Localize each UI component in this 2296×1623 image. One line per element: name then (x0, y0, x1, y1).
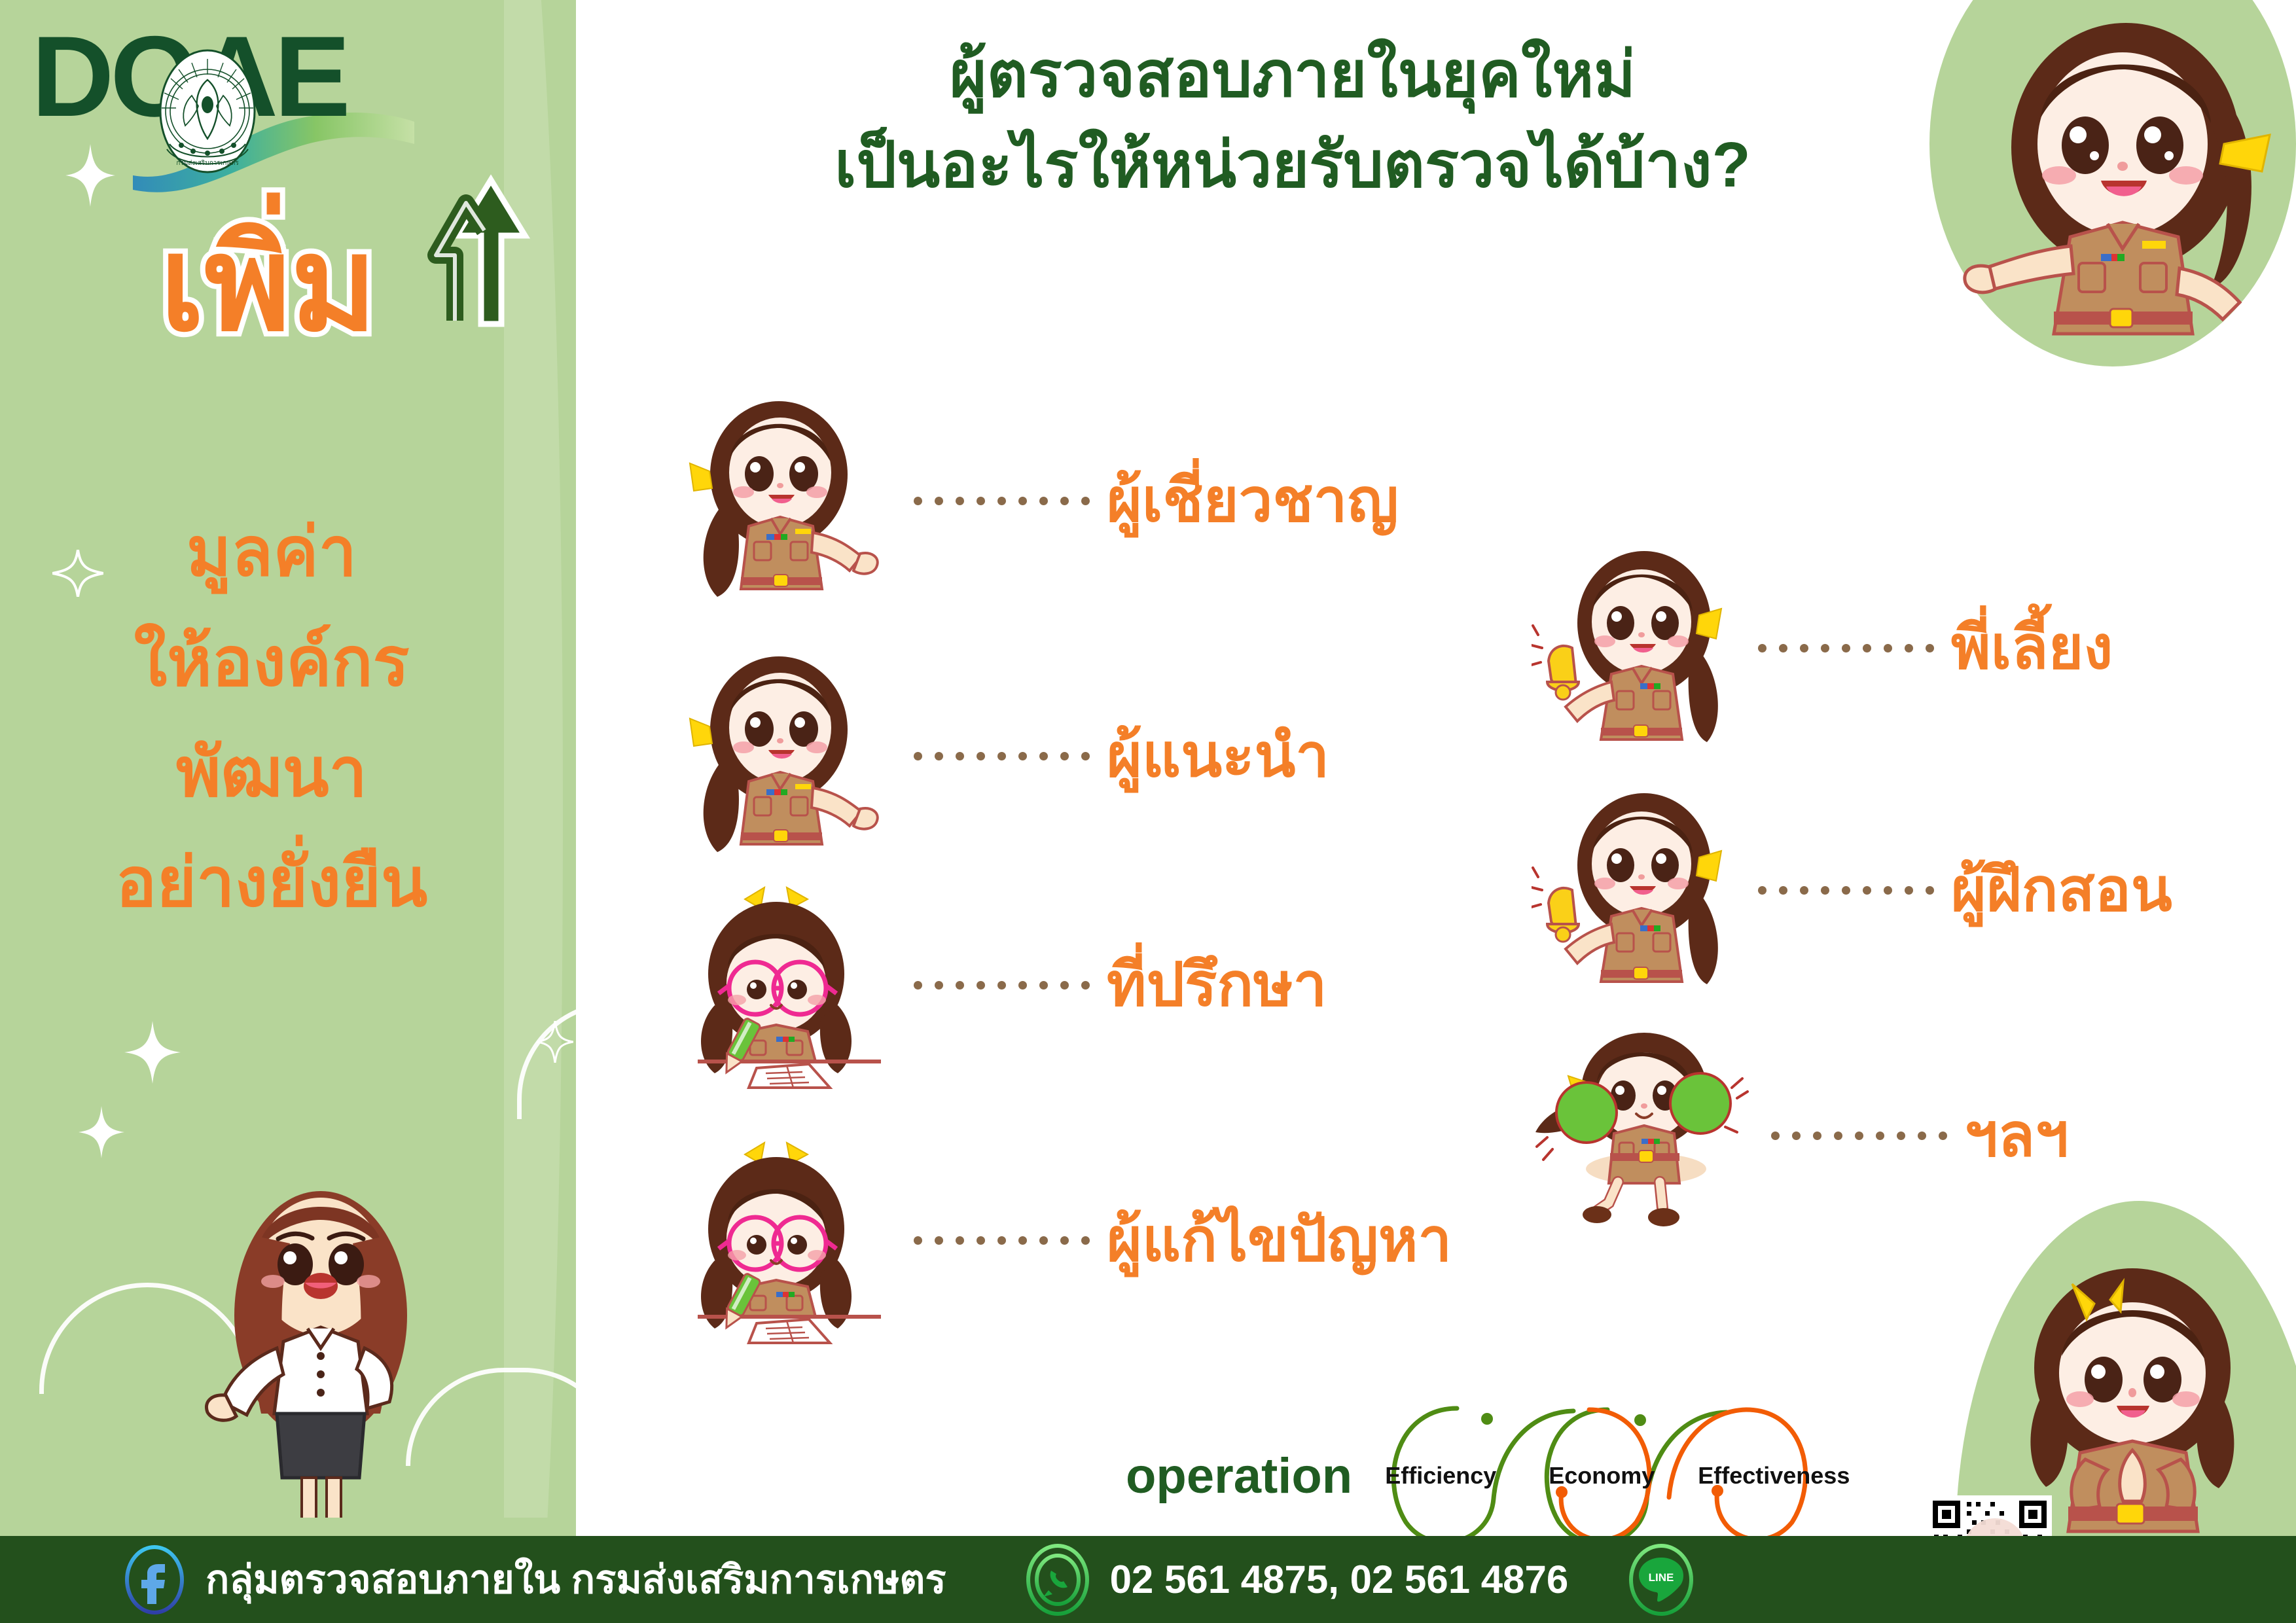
operation-labels: Efficiency Economy Effectiveness (1365, 1400, 1863, 1551)
role-label-advisor: ผู้แนะนำ (1107, 726, 1329, 786)
footer-phone-number: 02 561 4875, 02 561 4876 (1110, 1557, 1569, 1602)
connector-dots (914, 981, 1090, 990)
garuda-seal-icon: กรมส่งเสริมการเกษตร (152, 46, 262, 183)
role-row-consultant: ที่ปรึกษา (674, 877, 1327, 1093)
footer-facebook-label: กลุ่มตรวจสอบภายใน กรมส่งเสริมการเกษตร (206, 1548, 946, 1611)
line-wordmark: LINE (1649, 1571, 1674, 1584)
connector-dots (914, 497, 1090, 505)
sidebar-keyword: เพิ่ม (0, 209, 537, 360)
sidebar-tagline-4: อย่างยั่งยืน (0, 828, 543, 938)
sidebar-keyword-text: เพิ่ม (160, 211, 377, 357)
role-row-mentor: พี่เลี้ยง (1532, 543, 2113, 753)
sparkle-icon-1 (65, 144, 115, 207)
mascot-pointing-top (1949, 7, 2289, 373)
role-label-consultant: ที่ปรึกษา (1107, 955, 1327, 1015)
role-label-coach: ผู้ฝึกสอน (1951, 860, 2172, 920)
mascot-glasses-writing-figure (674, 877, 897, 1093)
line-icon[interactable]: LINE (1627, 1543, 1695, 1616)
operation-word: operation (1126, 1448, 1352, 1505)
page-title: ผู้ตรวจสอบภายในยุคใหม่ เป็นอะไรให้หน่วยร… (615, 29, 1970, 209)
role-label-expert: ผู้เชี่ยวชาญ (1107, 471, 1399, 531)
role-row-expert: ผู้เชี่ยวชาญ (681, 393, 1399, 609)
connector-dots (1758, 644, 1934, 652)
page-title-line-2: เป็นอะไรให้หน่วยรับตรวจได้บ้าง? (615, 120, 1970, 210)
role-row-problem-solver: ผู้แก้ไขปัญหา (674, 1132, 1452, 1348)
sidebar-tagline-1: มูลค่า (0, 497, 543, 607)
sidebar-tagline-3: พัฒนา (0, 718, 543, 828)
operation-label-economy: Economy (1549, 1462, 1655, 1489)
doae-logo: DOAE กรมส่งเสริมการเกษตร (31, 20, 347, 134)
seal-caption: กรมส่งเสริมการเกษตร (176, 160, 239, 167)
footer-bar: กลุ่มตรวจสอบภายใน กรมส่งเสริมการเกษตร 02… (0, 1536, 2296, 1623)
footer-green-strip (0, 1518, 576, 1536)
sparkle-icon-5 (537, 1021, 573, 1063)
mascot-glasses-writing-figure (674, 1132, 897, 1348)
sparkle-icon-3 (124, 1021, 181, 1084)
page-title-line-1: ผู้ตรวจสอบภายในยุคใหม่ (615, 29, 1970, 120)
operation-label-effectiveness: Effectiveness (1698, 1462, 1850, 1489)
role-label-etc: ฯลฯ (1964, 1105, 2069, 1166)
connector-dots (914, 1236, 1090, 1245)
sparkle-icon-4 (79, 1106, 124, 1158)
connector-dots (914, 752, 1090, 760)
mascot-pointing-figure (681, 393, 897, 609)
operation-diagram: operation Efficiency Economy Effectivene… (1126, 1400, 1863, 1551)
role-label-problem-solver: ผู้แก้ไขปัญหา (1107, 1210, 1452, 1270)
mascot-bell-figure (1532, 543, 1741, 753)
mascot-office-woman (173, 1152, 461, 1544)
sidebar-taglines: มูลค่า ให้องค์กร พัฒนา อย่างยั่งยืน (0, 497, 543, 938)
sidebar-tagline-2: ให้องค์กร (0, 607, 543, 717)
mascot-cheerleader-figure (1532, 1027, 1754, 1243)
mascot-pointing-figure (681, 648, 897, 864)
mascot-bell-figure (1532, 785, 1741, 995)
role-label-mentor: พี่เลี้ยง (1951, 618, 2113, 678)
role-row-etc: ฯลฯ (1532, 1027, 2069, 1243)
phone-whatsapp-icon[interactable] (1025, 1543, 1090, 1616)
facebook-icon[interactable] (124, 1544, 185, 1615)
role-row-advisor: ผู้แนะนำ (681, 648, 1329, 864)
connector-dots (1771, 1132, 1947, 1140)
role-row-coach: ผู้ฝึกสอน (1532, 785, 2172, 995)
operation-label-efficiency: Efficiency (1385, 1462, 1496, 1489)
connector-dots (1758, 886, 1934, 895)
